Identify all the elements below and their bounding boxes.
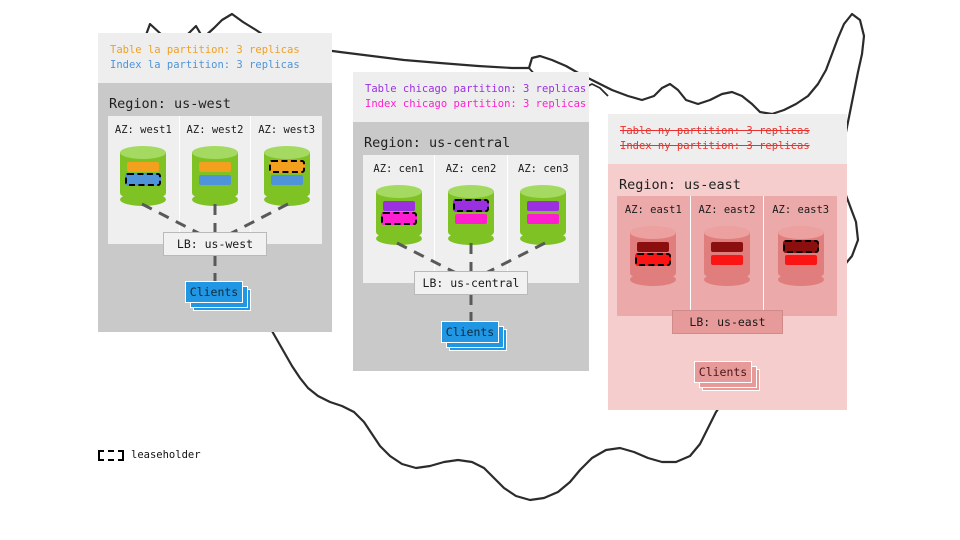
replica-band-table (383, 201, 415, 211)
cylinder-top (448, 185, 494, 198)
az-cell-west3[interactable]: AZ: west3 (250, 116, 322, 244)
replica-band-table (127, 162, 159, 172)
annotation-card-us-east: Table ny partition: 3 replicas Index ny … (608, 114, 847, 164)
region-title-us-west: Region: us-west (109, 96, 231, 112)
az-cell-west1[interactable]: AZ: west1 (108, 116, 179, 244)
az-label-cen1: AZ: cen1 (373, 163, 424, 175)
az-label-west3: AZ: west3 (258, 124, 315, 136)
az-strip-us-east: AZ: east1 AZ: east2 AZ: east3 (617, 196, 837, 316)
node-cylinder-east2[interactable] (704, 226, 750, 286)
clients-box[interactable]: Clients (185, 281, 243, 303)
node-cylinder-west2[interactable] (192, 146, 238, 206)
dashed-rectangle-icon (98, 450, 124, 461)
clients-stack-us-central[interactable]: Clients (441, 321, 509, 353)
az-cell-cen1[interactable]: AZ: cen1 (363, 155, 434, 283)
node-cylinder-east1[interactable] (630, 226, 676, 286)
cylinder-top (264, 146, 310, 159)
az-label-cen3: AZ: cen3 (518, 163, 569, 175)
annotation-line-index-ny: Index ny partition: 3 replicas (620, 139, 835, 154)
az-cell-cen3[interactable]: AZ: cen3 (507, 155, 579, 283)
annotation-line-table-chicago: Table chicago partition: 3 replicas (365, 82, 577, 97)
replica-band-index (527, 214, 559, 224)
cylinder-top (704, 226, 750, 239)
annotation-card-us-west: Table la partition: 3 replicas Index la … (98, 33, 332, 83)
load-balancer-us-west[interactable]: LB: us-west (163, 232, 267, 256)
node-cylinder-west1[interactable] (120, 146, 166, 206)
replica-band-table (637, 242, 669, 252)
cylinder-top (520, 185, 566, 198)
legend-label: leaseholder (131, 449, 201, 461)
replica-band-index (711, 255, 743, 265)
clients-box[interactable]: Clients (441, 321, 499, 343)
diagram-canvas: Table la partition: 3 replicas Index la … (0, 0, 960, 540)
cylinder-top (120, 146, 166, 159)
az-label-west1: AZ: west1 (115, 124, 172, 136)
replica-band-index (271, 175, 303, 185)
replica-band-index (785, 255, 817, 265)
az-cell-east2[interactable]: AZ: east2 (690, 196, 764, 316)
replica-band-index-leaseholder (381, 212, 417, 225)
replica-band-table-leaseholder (269, 160, 305, 173)
load-balancer-label: LB: us-central (423, 276, 520, 290)
annotation-line-index-la: Index la partition: 3 replicas (110, 58, 320, 73)
az-strip-us-west: AZ: west1 AZ: west2 AZ: west3 (108, 116, 322, 244)
replica-band-index-leaseholder (635, 253, 671, 266)
replica-band-table-leaseholder (453, 199, 489, 212)
az-cell-west2[interactable]: AZ: west2 (179, 116, 251, 244)
replica-band-table-leaseholder (783, 240, 819, 253)
replica-band-table (199, 162, 231, 172)
az-strip-us-central: AZ: cen1 AZ: cen2 AZ: cen3 (363, 155, 579, 283)
load-balancer-label: LB: us-east (689, 315, 765, 329)
node-cylinder-cen2[interactable] (448, 185, 494, 245)
az-cell-cen2[interactable]: AZ: cen2 (434, 155, 506, 283)
annotation-line-table-ny: Table ny partition: 3 replicas (620, 124, 835, 139)
cylinder-top (192, 146, 238, 159)
node-cylinder-cen3[interactable] (520, 185, 566, 245)
cylinder-top (630, 226, 676, 239)
cylinder-top (376, 185, 422, 198)
replica-band-table (527, 201, 559, 211)
clients-label: Clients (699, 365, 747, 379)
region-title-us-east: Region: us-east (619, 177, 741, 193)
clients-label: Clients (190, 285, 238, 299)
node-cylinder-cen1[interactable] (376, 185, 422, 245)
load-balancer-label: LB: us-west (177, 237, 253, 251)
clients-stack-us-west[interactable]: Clients (185, 281, 253, 313)
az-label-east1: AZ: east1 (625, 204, 682, 216)
clients-box[interactable]: Clients (694, 361, 752, 383)
clients-label: Clients (446, 325, 494, 339)
legend: leaseholder (98, 449, 201, 461)
annotation-line-index-chicago: Index chicago partition: 3 replicas (365, 97, 577, 112)
replica-band-table (711, 242, 743, 252)
az-cell-east1[interactable]: AZ: east1 (617, 196, 690, 316)
load-balancer-us-east[interactable]: LB: us-east (672, 310, 783, 334)
load-balancer-us-central[interactable]: LB: us-central (414, 271, 528, 295)
az-label-east2: AZ: east2 (699, 204, 756, 216)
annotation-line-table-la: Table la partition: 3 replicas (110, 43, 320, 58)
node-cylinder-east3[interactable] (778, 226, 824, 286)
replica-band-index-leaseholder (125, 173, 161, 186)
cylinder-top (778, 226, 824, 239)
az-cell-east3[interactable]: AZ: east3 (763, 196, 837, 316)
annotation-card-us-central: Table chicago partition: 3 replicas Inde… (353, 72, 589, 122)
replica-band-index (455, 214, 487, 224)
node-cylinder-west3[interactable] (264, 146, 310, 206)
replica-band-index (199, 175, 231, 185)
az-label-east3: AZ: east3 (772, 204, 829, 216)
clients-stack-us-east[interactable]: Clients (694, 361, 762, 393)
az-label-west2: AZ: west2 (187, 124, 244, 136)
region-title-us-central: Region: us-central (364, 135, 510, 151)
az-label-cen2: AZ: cen2 (446, 163, 497, 175)
